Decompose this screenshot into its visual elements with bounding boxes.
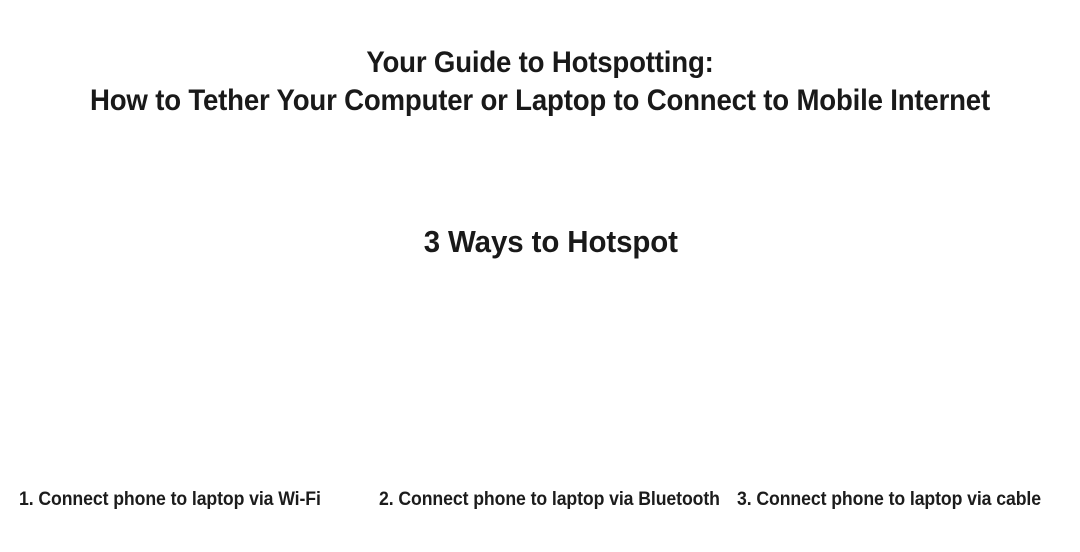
method-caption-cell-wifi: 1. Connect phone to laptop via Wi-Fi (0, 486, 360, 514)
method-captions-row: 1. Connect phone to laptop via Wi-Fi 2. … (0, 486, 1080, 514)
page-title: Your Guide to Hotspotting: How to Tether… (0, 44, 1080, 120)
method-figure-bluetooth (360, 280, 720, 480)
page-title-line-1: Your Guide to Hotspotting: (43, 44, 1037, 82)
section-heading: 3 Ways to Hotspot (0, 222, 1080, 262)
method-caption-wifi: 1. Connect phone to laptop via Wi-Fi (19, 489, 321, 511)
method-caption-cell-cable: 3. Connect phone to laptop via cable (720, 486, 1080, 514)
method-caption-bluetooth: 2. Connect phone to laptop via Bluetooth (379, 489, 720, 511)
method-caption-cable: 3. Connect phone to laptop via cable (737, 489, 1041, 511)
method-image-bluetooth (540, 380, 541, 381)
section-heading-text: 3 Ways to Hotspot (424, 222, 678, 262)
method-figure-cable (720, 280, 1080, 480)
page-title-line-2: How to Tether Your Computer or Laptop to… (43, 82, 1037, 120)
method-caption-cell-bluetooth: 2. Connect phone to laptop via Bluetooth (360, 486, 720, 514)
methods-illustration-row (0, 280, 1080, 480)
method-image-cable (900, 380, 901, 381)
article-page: Your Guide to Hotspotting: How to Tether… (0, 0, 1080, 552)
method-image-wifi (180, 380, 181, 381)
method-figure-wifi (0, 280, 360, 480)
